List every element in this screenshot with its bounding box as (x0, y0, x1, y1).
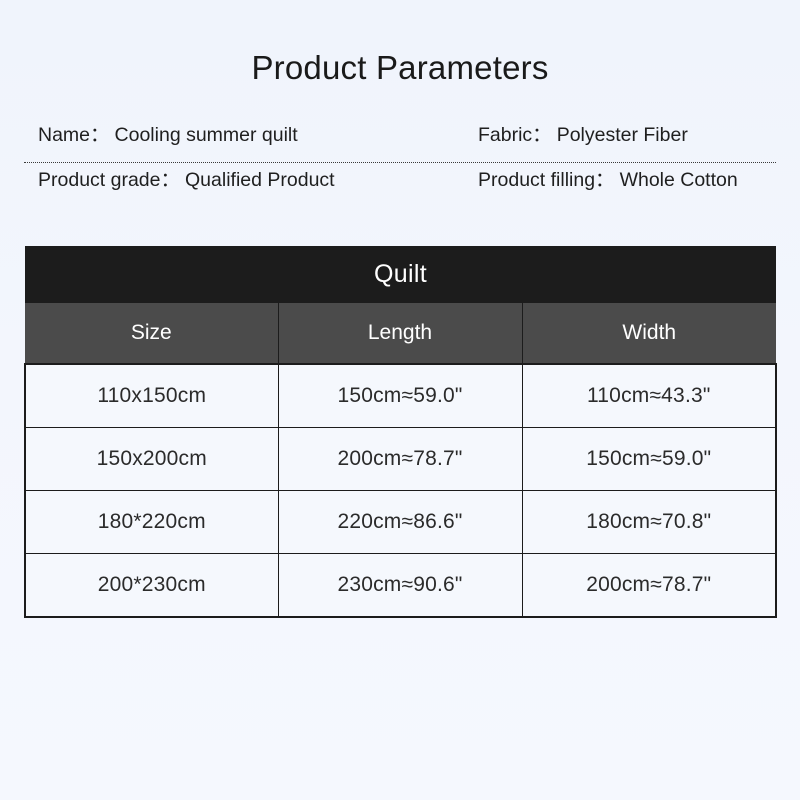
product-parameters-page: Product Parameters Name： Cooling summer … (0, 0, 800, 800)
parameter-value: Whole Cotton (620, 169, 738, 192)
size-specification-table: Quilt Size Length Width 110x150cm 150cm≈… (24, 246, 777, 618)
cell-length: 220cm≈86.6" (278, 491, 522, 554)
table-caption-row: Quilt (25, 246, 776, 303)
column-header-size: Size (25, 303, 278, 364)
cell-width: 110cm≈43.3" (522, 364, 776, 428)
parameter-value: Cooling summer quilt (115, 124, 298, 147)
parameter-value: Polyester Fiber (557, 124, 688, 147)
parameter-product-filling: Product filling： Whole Cotton (464, 163, 776, 192)
parameter-label: Product grade： (38, 163, 180, 192)
cell-width: 180cm≈70.8" (522, 491, 776, 554)
cell-size: 180*220cm (25, 491, 278, 554)
cell-length: 230cm≈90.6" (278, 554, 522, 618)
cell-width: 150cm≈59.0" (522, 428, 776, 491)
cell-size: 150x200cm (25, 428, 278, 491)
parameter-list: Name： Cooling summer quilt Fabric： Polye… (24, 118, 776, 207)
parameter-row: Product grade： Qualified Product Product… (24, 163, 776, 207)
table-header-row: Size Length Width (25, 303, 776, 364)
parameter-value: Qualified Product (185, 169, 335, 192)
cell-size: 110x150cm (25, 364, 278, 428)
table-row: 110x150cm 150cm≈59.0" 110cm≈43.3" (25, 364, 776, 428)
page-title: Product Parameters (0, 48, 800, 88)
cell-size: 200*230cm (25, 554, 278, 618)
parameter-label: Fabric： (478, 118, 552, 147)
parameter-fabric: Fabric： Polyester Fiber (464, 118, 776, 147)
parameter-product-grade: Product grade： Qualified Product (24, 163, 464, 192)
table-row: 180*220cm 220cm≈86.6" 180cm≈70.8" (25, 491, 776, 554)
parameter-label: Name： (38, 118, 110, 147)
parameter-name: Name： Cooling summer quilt (24, 118, 464, 147)
cell-length: 150cm≈59.0" (278, 364, 522, 428)
table-caption: Quilt (25, 246, 776, 303)
parameter-label: Product filling： (478, 163, 615, 192)
parameter-row: Name： Cooling summer quilt Fabric： Polye… (24, 118, 776, 163)
cell-length: 200cm≈78.7" (278, 428, 522, 491)
column-header-width: Width (522, 303, 776, 364)
table-row: 150x200cm 200cm≈78.7" 150cm≈59.0" (25, 428, 776, 491)
table-row: 200*230cm 230cm≈90.6" 200cm≈78.7" (25, 554, 776, 618)
column-header-length: Length (278, 303, 522, 364)
cell-width: 200cm≈78.7" (522, 554, 776, 618)
